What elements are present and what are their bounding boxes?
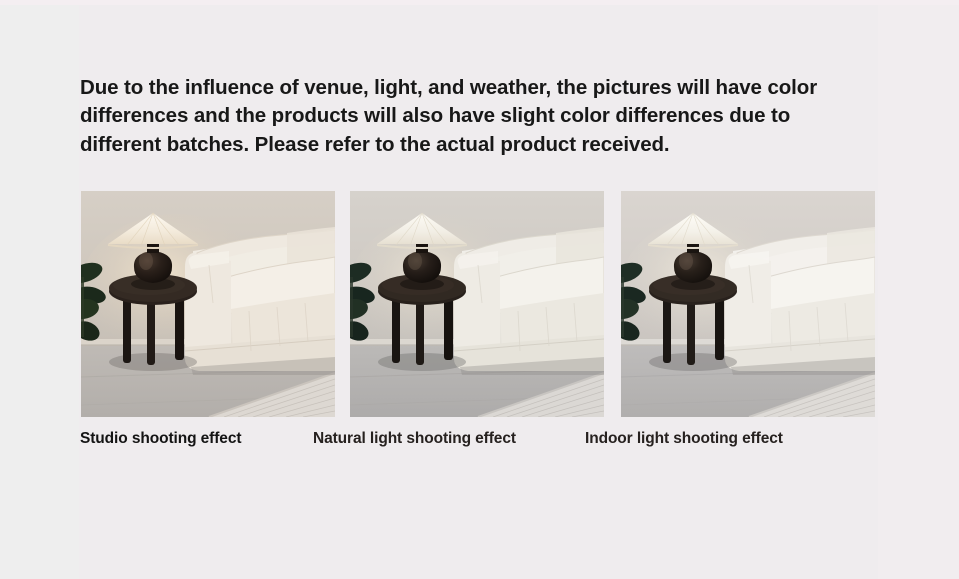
- scene-image-studio: [81, 191, 335, 417]
- scene-image-indoor: [621, 191, 875, 417]
- caption-natural: Natural light shooting effect: [313, 430, 516, 448]
- caption-studio: Studio shooting effect: [80, 430, 241, 448]
- sofa: [185, 227, 335, 375]
- photo-panel-row: [81, 191, 875, 417]
- disclaimer-headline: Due to the influence of venue, light, an…: [80, 74, 870, 159]
- photo-panel-indoor[interactable]: [621, 191, 875, 417]
- photo-panel-natural[interactable]: [350, 191, 604, 417]
- caption-indoor: Indoor light shooting effect: [585, 430, 783, 448]
- sofa: [454, 227, 604, 375]
- sofa: [725, 227, 875, 375]
- content-area: Due to the influence of venue, light, an…: [0, 0, 959, 579]
- caption-row: Studio shooting effect Natural light sho…: [0, 430, 959, 456]
- photo-panel-studio[interactable]: [81, 191, 335, 417]
- scene-image-natural: [350, 191, 604, 417]
